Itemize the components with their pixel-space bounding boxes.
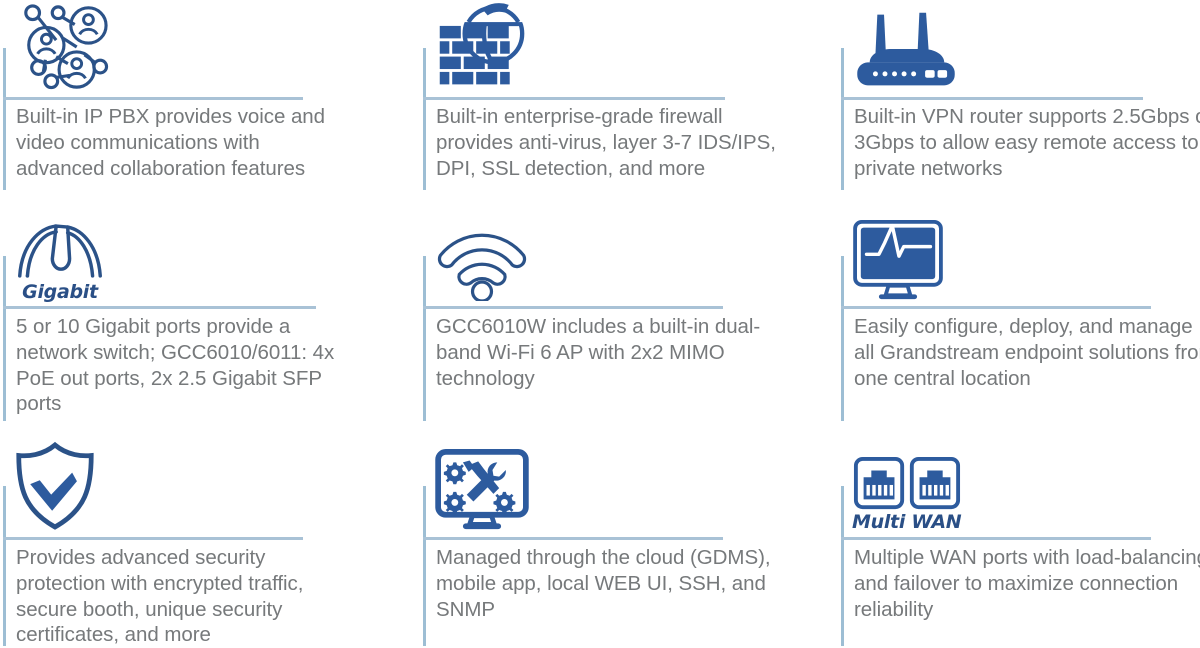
feature-card-firewall: Built-in enterprise-grade firewall provi… <box>420 0 838 208</box>
network-people-icon <box>14 1 112 93</box>
horizontal-rule <box>841 306 1151 309</box>
icon-container <box>14 2 112 94</box>
icon-container <box>434 210 530 302</box>
horizontal-rule <box>841 537 1151 540</box>
icon-container <box>852 2 960 94</box>
vertical-rule <box>841 486 844 646</box>
feature-grid: Built-in IP PBX provides voice and video… <box>0 0 1200 648</box>
feature-description: GCC6010W includes a built-in dual-band W… <box>436 314 766 391</box>
feature-description: Multiple WAN ports with load-balancing a… <box>854 545 1200 622</box>
feature-description: 5 or 10 Gigabit ports provide a network … <box>16 314 366 417</box>
horizontal-rule <box>3 537 303 540</box>
monitor-tools-icon <box>434 449 530 531</box>
horizontal-rule <box>423 537 723 540</box>
feature-card-wifi-6: GCC6010W includes a built-in dual-band W… <box>420 208 838 438</box>
icon-caption: Multi WAN <box>852 513 961 532</box>
monitor-pulse-icon <box>852 219 944 301</box>
feature-card-security: Provides advanced security protection wi… <box>0 438 420 648</box>
vertical-rule <box>3 48 6 190</box>
feature-description: Built-in IP PBX provides voice and video… <box>16 104 346 181</box>
icon-caption: Gigabit <box>22 283 98 302</box>
vertical-rule <box>3 486 6 646</box>
icon-container <box>14 440 96 532</box>
feature-card-central-management: Easily configure, deploy, and manage all… <box>838 208 1200 438</box>
feature-description: Managed through the cloud (GDMS), mobile… <box>436 545 776 622</box>
vertical-rule <box>3 256 6 421</box>
vertical-rule <box>423 486 426 646</box>
rj45-ports-icon <box>853 456 961 512</box>
horizontal-rule <box>423 97 725 100</box>
shield-check-icon <box>14 441 96 531</box>
icon-container <box>852 210 944 302</box>
horizontal-rule <box>841 97 1143 100</box>
vertical-rule <box>423 48 426 190</box>
feature-card-gigabit-ports: Gigabit 5 or 10 Gigabit ports provide a … <box>0 208 420 438</box>
firewall-globe-icon <box>434 1 526 93</box>
horizontal-rule <box>423 306 723 309</box>
feature-description: Built-in enterprise-grade firewall provi… <box>436 104 796 181</box>
feature-description: Provides advanced security protection wi… <box>16 545 356 648</box>
router-icon <box>852 7 960 93</box>
feature-card-vpn-router: Built-in VPN router supports 2.5Gbps or … <box>838 0 1200 208</box>
wifi-icon <box>434 229 530 301</box>
feature-card-ip-pbx: Built-in IP PBX provides voice and video… <box>0 0 420 208</box>
horizontal-rule <box>3 97 303 100</box>
feature-description: Built-in VPN router supports 2.5Gbps or … <box>854 104 1200 181</box>
gigabit-logo-icon <box>14 220 106 282</box>
vertical-rule <box>423 256 426 421</box>
icon-container <box>434 440 530 532</box>
horizontal-rule <box>3 306 316 309</box>
feature-card-cloud-managed: Managed through the cloud (GDMS), mobile… <box>420 438 838 648</box>
vertical-rule <box>841 48 844 190</box>
icon-container: Multi WAN <box>852 442 961 532</box>
feature-card-multi-wan: Multi WAN Multiple WAN ports with load-b… <box>838 438 1200 648</box>
icon-container: Gigabit <box>14 212 106 302</box>
icon-container <box>434 2 526 94</box>
vertical-rule <box>841 256 844 421</box>
feature-description: Easily configure, deploy, and manage all… <box>854 314 1200 391</box>
